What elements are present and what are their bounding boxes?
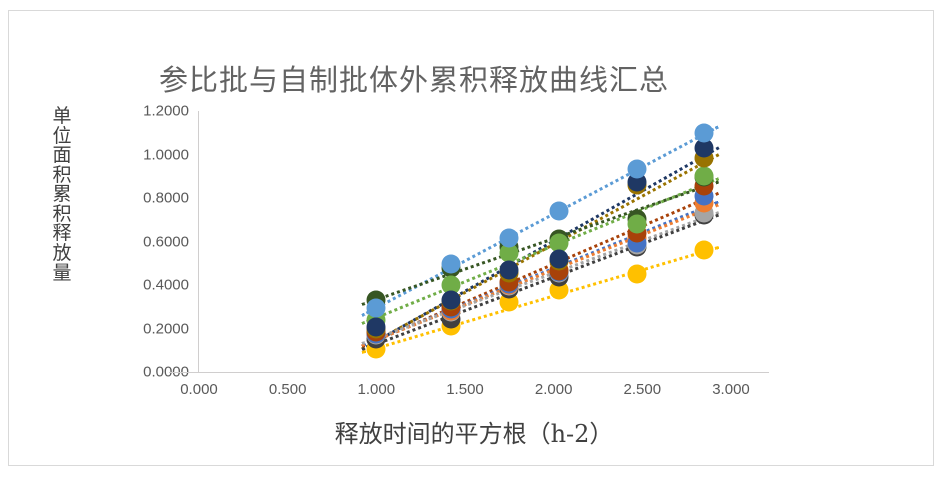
data-point xyxy=(500,260,519,279)
y-axis-title-char-4: 累 xyxy=(47,185,77,205)
y-axis-title: 单位面积累积释放量 xyxy=(47,107,77,283)
x-axis-title: 释放时间的平方根（h-2） xyxy=(239,414,709,449)
data-point xyxy=(628,215,647,234)
x-tick-label: 2.000 xyxy=(519,381,589,398)
data-point xyxy=(367,298,386,317)
x-tick-label: 1.000 xyxy=(341,381,411,398)
trendline xyxy=(362,212,719,346)
y-axis-title-char-7: 放 xyxy=(47,244,77,264)
data-point xyxy=(695,123,714,142)
data-point xyxy=(628,265,647,284)
y-tick-label: 1.2000 xyxy=(115,103,189,120)
data-point xyxy=(695,241,714,260)
data-point xyxy=(549,202,568,221)
data-point xyxy=(367,318,386,337)
y-tick-label: 0.2000 xyxy=(115,320,189,337)
plot-area xyxy=(199,111,731,372)
data-point xyxy=(441,255,460,274)
data-point xyxy=(695,167,714,186)
trendline xyxy=(362,214,719,351)
y-tick-label: 0.8000 xyxy=(115,190,189,207)
y-tick-label: 0.4000 xyxy=(115,277,189,294)
data-point xyxy=(441,291,460,310)
y-tick-label: 1.0000 xyxy=(115,146,189,163)
chart-title: 参比批与自制批体外累积释放曲线汇总 xyxy=(159,57,879,99)
trendline xyxy=(362,180,719,305)
y-axis-title-char-2: 面 xyxy=(47,146,77,166)
x-tick-label: 1.500 xyxy=(430,381,500,398)
y-axis-title-char-0: 单 xyxy=(47,107,77,127)
data-point xyxy=(549,249,568,268)
y-axis-title-char-8: 量 xyxy=(47,264,77,284)
x-tick-label: 2.500 xyxy=(607,381,677,398)
x-tick-label: 0.000 xyxy=(164,381,234,398)
data-point xyxy=(500,229,519,248)
chart-frame: 参比批与自制批体外累积释放曲线汇总 单位面积累积释放量 0.00000.2000… xyxy=(8,10,934,466)
x-axis-tick-labels: 0.0000.5001.0001.5002.0002.5003.000 xyxy=(199,381,739,405)
y-axis-tick-labels: 0.00000.20000.40000.60000.80001.00001.20… xyxy=(109,111,189,372)
data-point xyxy=(628,159,647,178)
y-axis-title-char-6: 释 xyxy=(47,224,77,244)
y-tick-label: 0.6000 xyxy=(115,233,189,250)
x-tick-label: 3.000 xyxy=(696,381,766,398)
x-axis-line xyxy=(169,372,769,373)
x-tick-label: 0.500 xyxy=(253,381,323,398)
